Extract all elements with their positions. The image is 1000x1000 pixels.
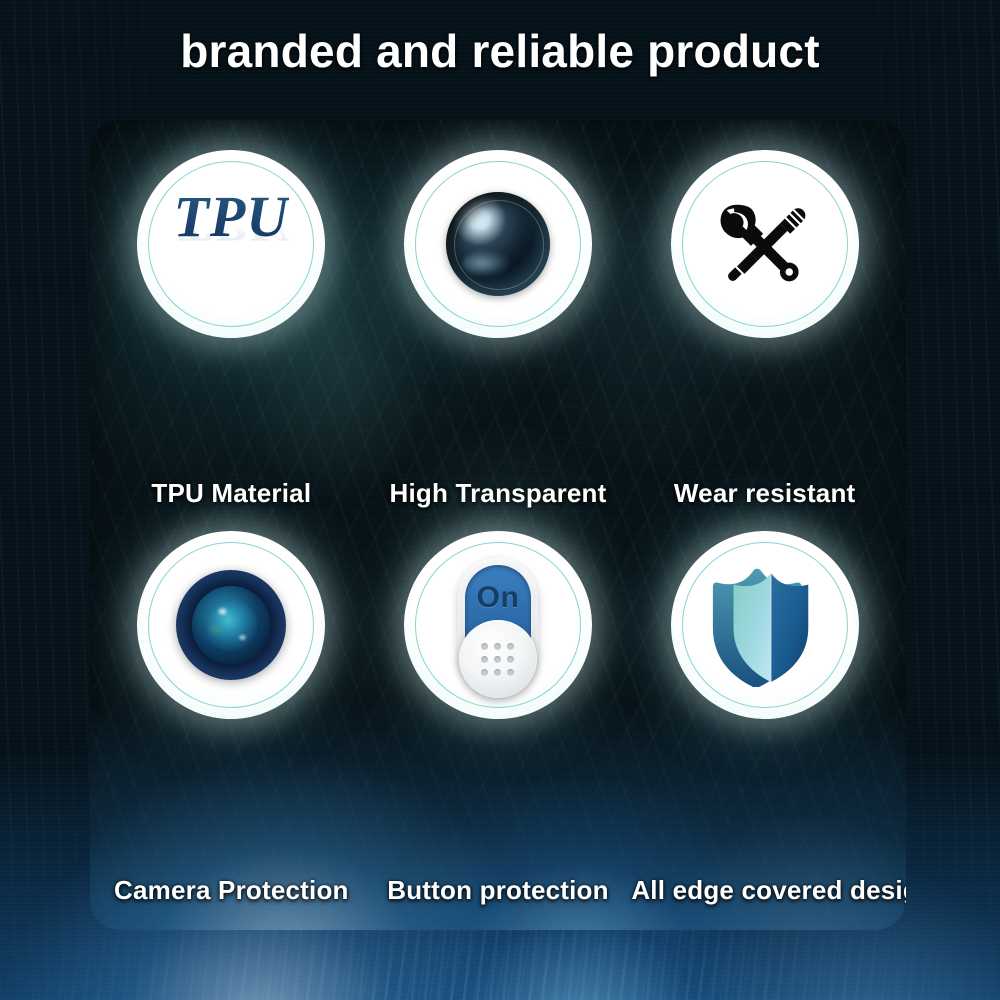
- feature-label: TPU Material: [98, 478, 365, 509]
- camera-lens-icon: [176, 570, 286, 680]
- feature-label: Wear resistant: [631, 478, 898, 509]
- feature-item-camera-protection: Camera Protection: [98, 517, 365, 904]
- feature-badge: [671, 150, 859, 338]
- page-background: branded and reliable product TPU TPU TPU…: [0, 0, 1000, 1000]
- feature-item-tpu-material: TPU TPU TPU Material: [98, 130, 365, 517]
- feature-badge: [137, 531, 325, 719]
- feature-grid: TPU TPU TPU Material High Transparent: [90, 120, 906, 930]
- toggle-knob-texture: [481, 643, 514, 676]
- feature-label: High Transparent: [365, 478, 632, 509]
- tpu-material-icon: TPU TPU: [173, 188, 289, 305]
- feature-badge: [404, 150, 592, 338]
- feature-label: Camera Protection: [98, 875, 365, 906]
- feature-panel: TPU TPU TPU Material High Transparent: [90, 120, 906, 930]
- tpu-icon-reflection: TPU: [173, 211, 289, 247]
- toggle-on-label: On: [465, 581, 531, 615]
- feature-badge: On: [404, 531, 592, 719]
- feature-item-button-protection: On Button protection: [365, 517, 632, 904]
- toggle-switch-on-icon[interactable]: On: [458, 558, 538, 692]
- feature-badge: TPU TPU: [137, 150, 325, 338]
- feature-item-all-edge-covered: All edge covered design: [631, 517, 898, 904]
- feature-item-wear-resistant: Wear resistant: [631, 130, 898, 517]
- feature-item-high-transparent: High Transparent: [365, 130, 632, 517]
- wrench-screwdriver-icon: [709, 188, 821, 300]
- page-title: branded and reliable product: [0, 24, 1000, 78]
- toggle-knob[interactable]: [459, 620, 537, 698]
- feature-badge: [671, 531, 859, 719]
- feature-label: Button protection: [365, 875, 632, 906]
- shield-icon: [706, 563, 824, 687]
- feature-label: All edge covered design: [631, 875, 898, 906]
- transparent-sphere-icon: [446, 192, 550, 296]
